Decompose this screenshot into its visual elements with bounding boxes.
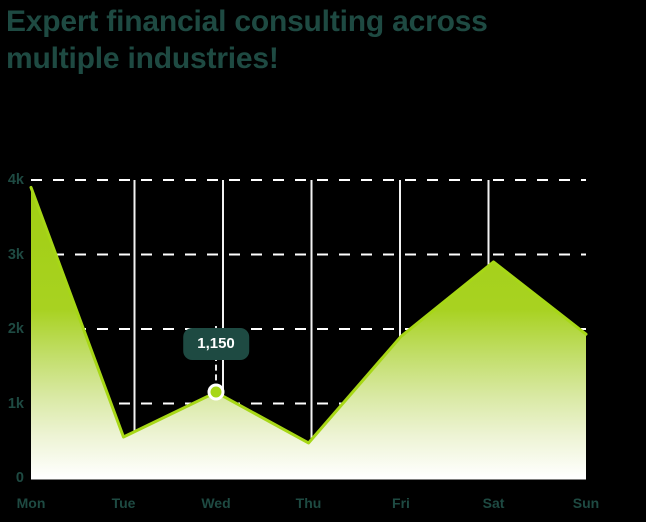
x-axis-tick-label-thu: Thu xyxy=(296,496,322,510)
revenue-area-chart: Expert financial consulting across multi… xyxy=(0,0,646,522)
y-axis-tick-label: 4k xyxy=(0,173,24,188)
x-axis-tick-label-sun: Sun xyxy=(573,496,599,510)
x-axis-tick-label-sat: Sat xyxy=(483,496,505,510)
value-tooltip[interactable]: 1,150 xyxy=(183,328,249,360)
series-area-fill xyxy=(31,187,586,478)
active-data-point-marker[interactable] xyxy=(208,384,225,401)
y-axis-tick-label: 1k xyxy=(0,397,24,412)
chart-plot-area xyxy=(0,0,646,522)
x-axis-tick-label-fri: Fri xyxy=(392,496,410,510)
y-axis-tick-label: 3k xyxy=(0,248,24,263)
y-axis-tick-label: 0 xyxy=(0,471,24,486)
x-axis-tick-label-mon: Mon xyxy=(17,496,46,510)
x-axis-tick-label-tue: Tue xyxy=(112,496,136,510)
x-axis-tick-label-wed: Wed xyxy=(201,496,230,510)
y-axis-tick-label: 2k xyxy=(0,322,24,337)
